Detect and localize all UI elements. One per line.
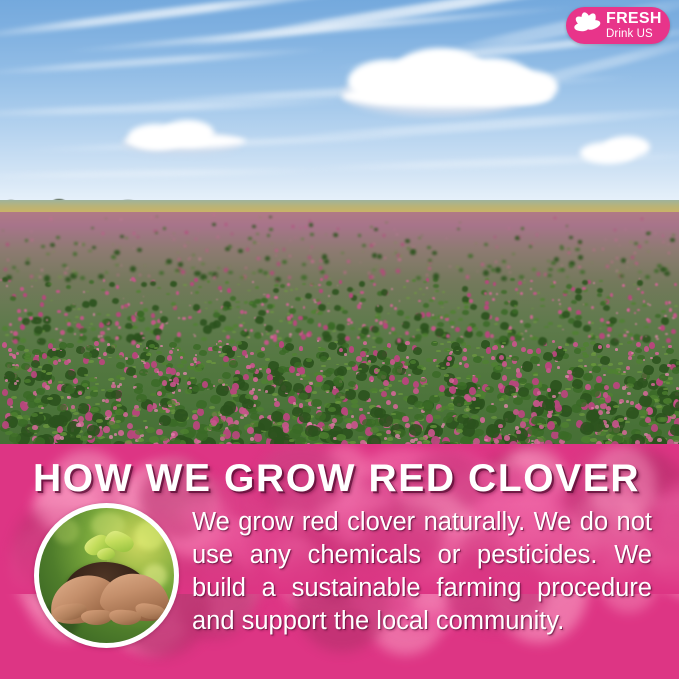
brand-name-primary: FRESH: [606, 11, 662, 27]
seedling-circle-image: [34, 503, 179, 648]
product-infographic-poster: HOW WE GROW RED CLOVER We grow red clove…: [0, 0, 679, 679]
page-title: HOW WE GROW RED CLOVER: [33, 459, 657, 499]
seedling-leaf-small: [96, 547, 115, 561]
brand-logo-badge[interactable]: FRESH Drink US: [566, 7, 670, 44]
hero-photo: [0, 0, 679, 444]
body-paragraph: We grow red clover naturally. We do not …: [192, 506, 652, 638]
clover-field: [0, 212, 679, 444]
brand-logo-text: FRESH Drink US: [606, 11, 662, 41]
clover-flower-texture: [0, 212, 679, 444]
flower-petals-icon: [570, 9, 603, 42]
brand-name-secondary: Drink US: [606, 29, 662, 41]
